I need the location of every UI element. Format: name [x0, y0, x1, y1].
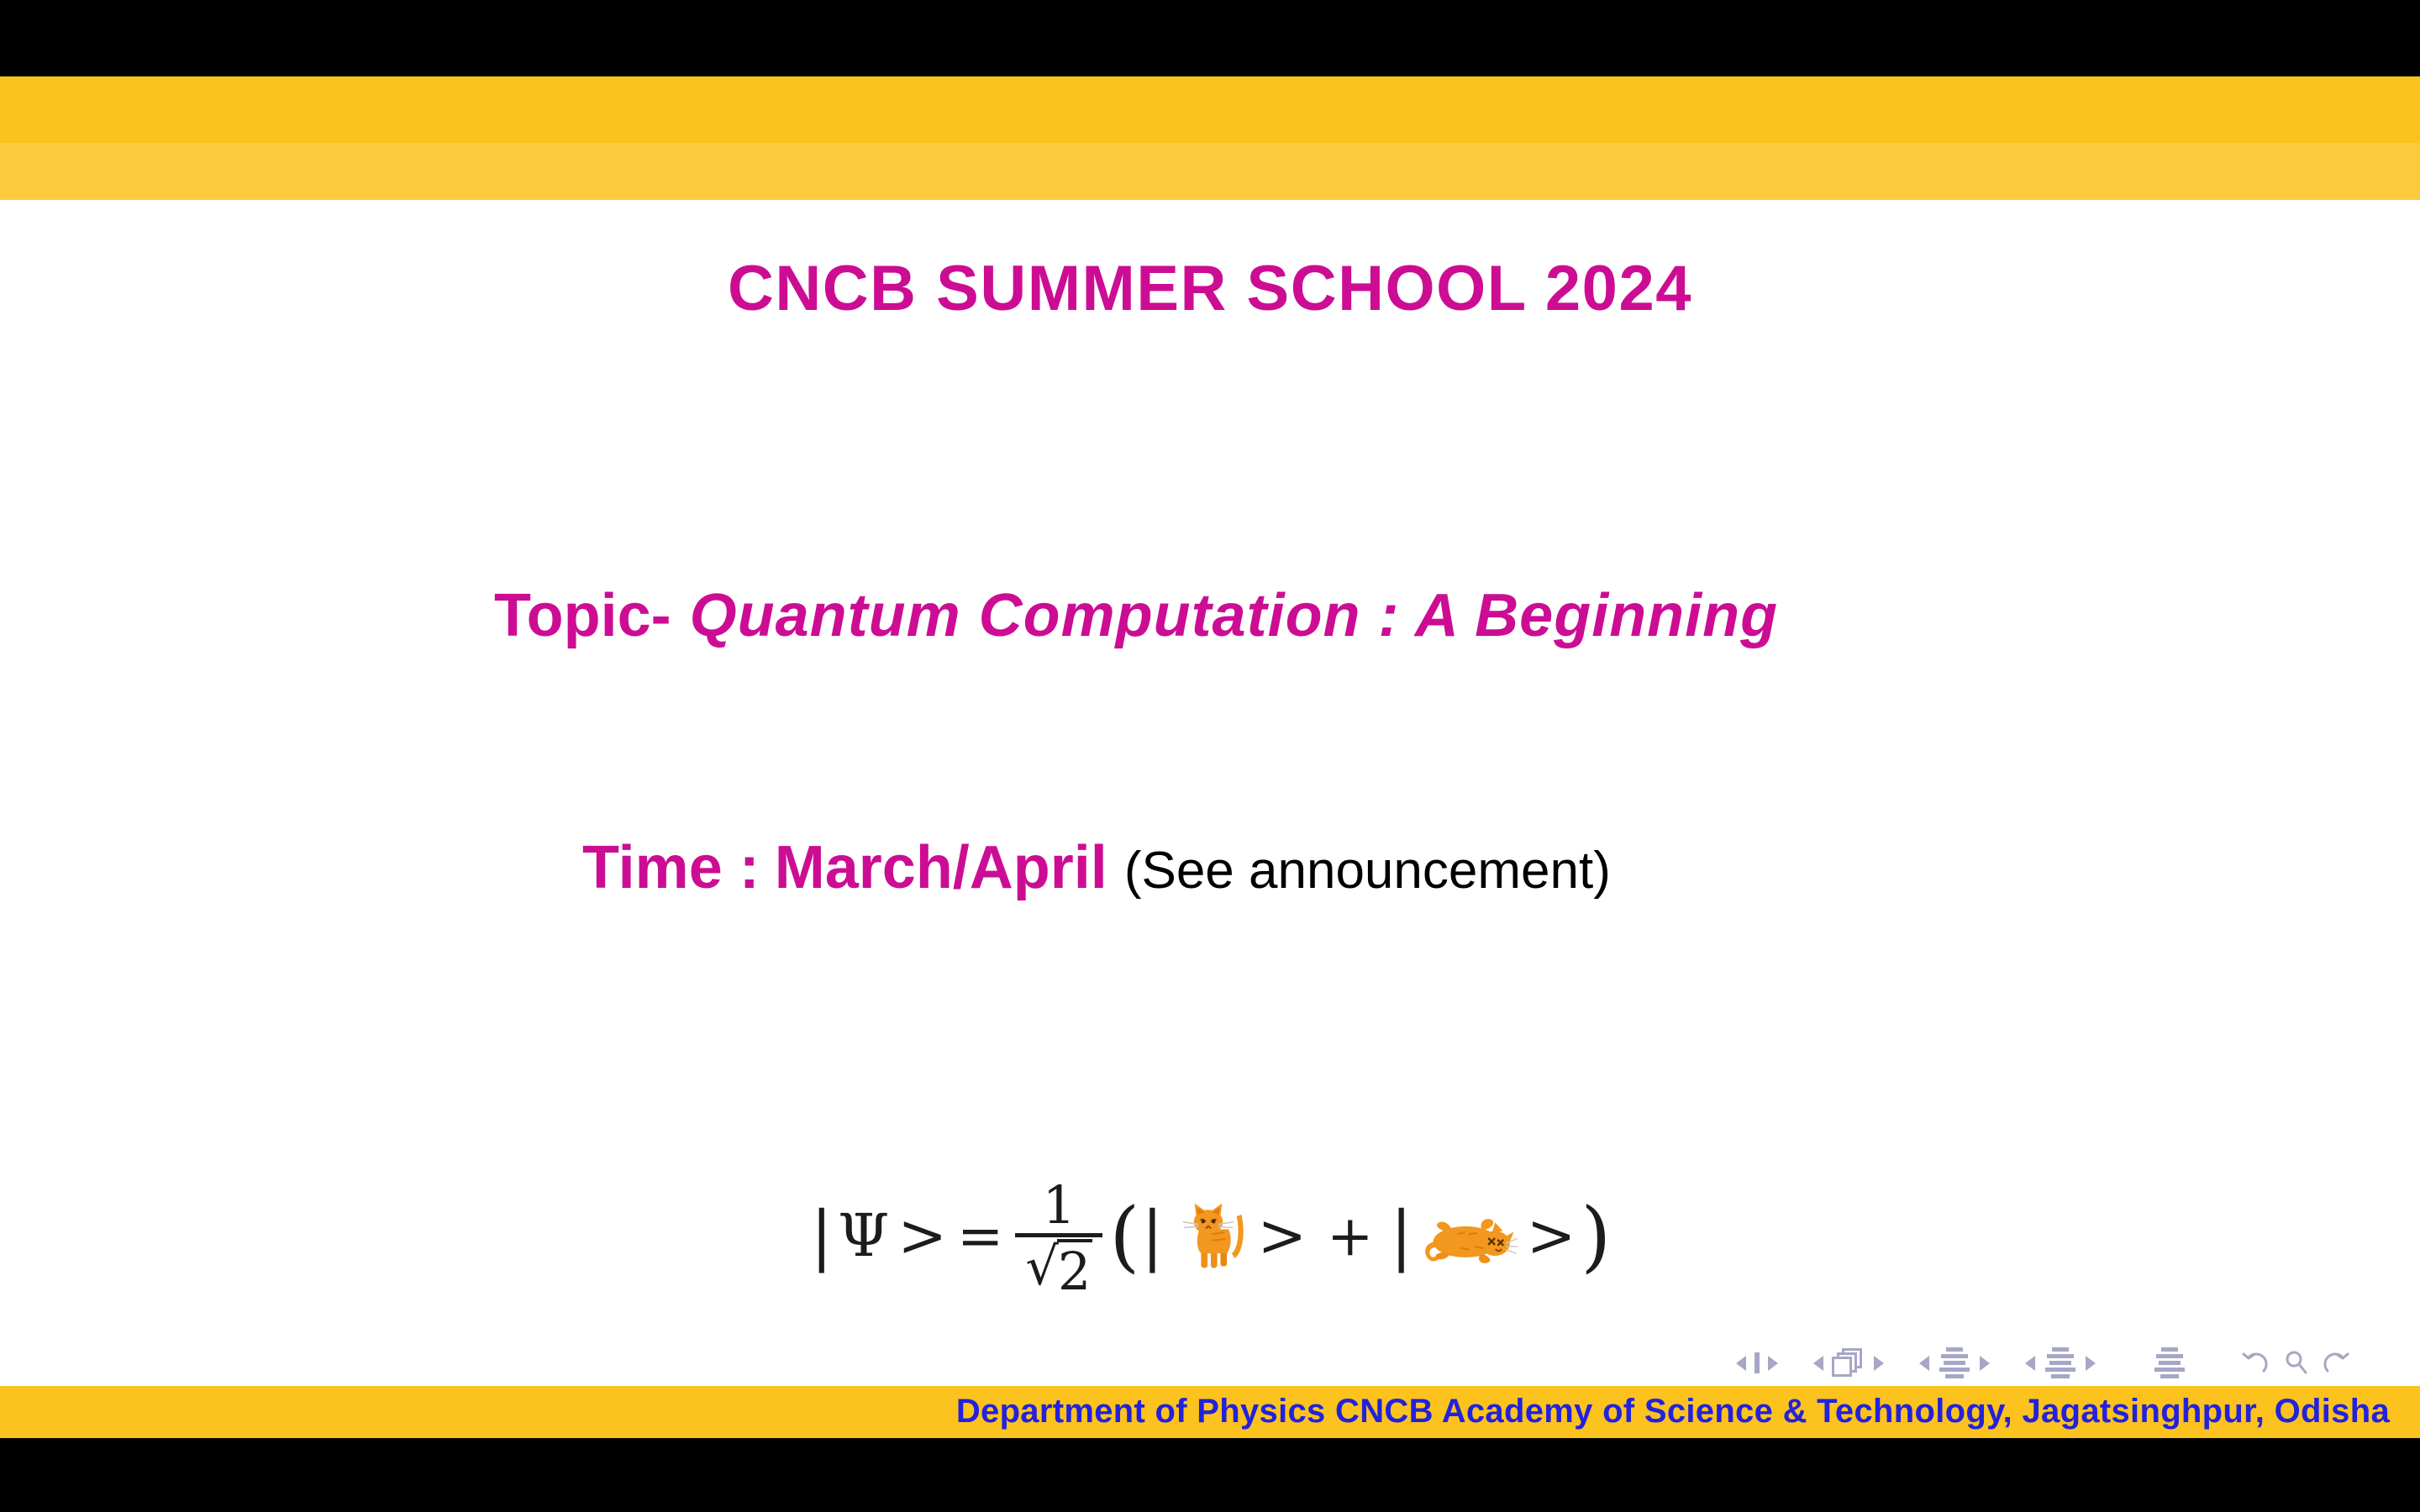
footer-institution-text: Department of Physics CNCB Academy of Sc…: [0, 1393, 2420, 1431]
time-note: (See announcement): [1107, 842, 1611, 900]
history-navigation-group[interactable]: [2235, 1347, 2356, 1378]
ket-angle-alive: >: [1253, 1201, 1313, 1270]
section-next-arrow[interactable]: [2083, 1352, 2098, 1373]
frame-previous-arrow[interactable]: [1811, 1352, 1826, 1373]
slide-square-icon[interactable]: [1754, 1355, 1760, 1371]
time-line: Time :March/April(See announcement): [582, 833, 1611, 902]
ket-bar-dead: |: [1388, 1206, 1413, 1265]
beamer-navigation-bar[interactable]: [1728, 1341, 2400, 1384]
cat-alive-icon: [1169, 1195, 1249, 1276]
sqrt-radicand: 2: [1057, 1239, 1092, 1299]
presentation-slide: CNCB SUMMER SCHOOL 2024 Topic-Quantum Co…: [0, 0, 2420, 1512]
topic-line: Topic-Quantum Computation : A Beginning: [494, 581, 1778, 650]
section-navigation-group[interactable]: [2017, 1347, 2104, 1378]
slide-next-arrow[interactable]: [1765, 1352, 1781, 1373]
fraction-numerator: 1: [1043, 1179, 1076, 1233]
open-paren: (: [1109, 1207, 1139, 1265]
frame-navigation-group[interactable]: [1805, 1348, 1892, 1377]
sqrt-symbol: √: [1025, 1239, 1059, 1294]
close-paren: ): [1581, 1207, 1611, 1265]
time-label: Time :: [582, 834, 760, 901]
forward-arrow-icon[interactable]: [2321, 1347, 2351, 1378]
frame-next-arrow[interactable]: [1871, 1352, 1886, 1373]
back-arrow-icon[interactable]: [2240, 1347, 2270, 1378]
section-previous-arrow[interactable]: [2023, 1352, 2038, 1373]
plus-sign: +: [1312, 1204, 1388, 1268]
cat-dead-icon: [1418, 1195, 1518, 1276]
time-value: March/April: [760, 834, 1107, 901]
topic-label: Topic-: [494, 582, 671, 649]
schrodinger-cat-equation: |Ψ>= 1 √2 (|: [0, 1176, 2420, 1295]
ket-bar-open: |: [809, 1206, 834, 1265]
ket-angle-dead: >: [1522, 1201, 1581, 1270]
equals-sign: =: [952, 1204, 1008, 1268]
psi-symbol: Ψ: [834, 1201, 892, 1270]
topic-value: Quantum Computation : A Beginning: [671, 582, 1779, 649]
section-lines-icon[interactable]: [2044, 1347, 2077, 1378]
letterbox-bottom-bar: [0, 1438, 2420, 1512]
slide-content-area: CNCB SUMMER SCHOOL 2024 Topic-Quantum Co…: [0, 200, 2420, 1386]
subsection-navigation-group[interactable]: [1911, 1347, 1998, 1378]
document-navigation-group[interactable]: [2153, 1347, 2186, 1378]
document-lines-icon[interactable]: [2153, 1347, 2186, 1378]
slide-navigation-group[interactable]: [1728, 1352, 1786, 1373]
frames-stack-icon[interactable]: [1832, 1348, 1865, 1377]
ket-bar-alive: |: [1139, 1206, 1165, 1265]
slide-title: CNCB SUMMER SCHOOL 2024: [0, 252, 2420, 325]
subsection-previous-arrow[interactable]: [1917, 1352, 1932, 1373]
subsection-lines-icon[interactable]: [1938, 1347, 1971, 1378]
subsection-next-arrow[interactable]: [1977, 1352, 1992, 1373]
fraction-denominator: √2: [1025, 1237, 1092, 1299]
beamer-header-bar-upper: [0, 76, 2420, 143]
search-icon[interactable]: [2281, 1347, 2311, 1378]
letterbox-top-bar: [0, 0, 2420, 76]
slide-previous-arrow[interactable]: [1733, 1352, 1749, 1373]
one-over-root-two-fraction: 1 √2: [1015, 1179, 1102, 1299]
beamer-header-bar-lower: [0, 143, 2420, 200]
ket-angle-close: >: [892, 1201, 952, 1270]
